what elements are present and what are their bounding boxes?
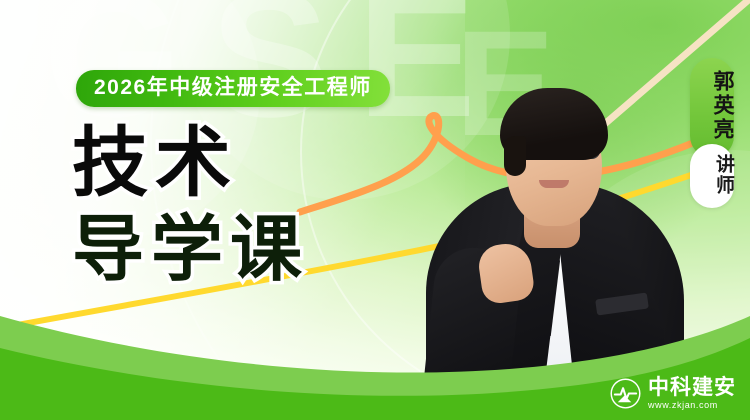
hair bbox=[500, 88, 608, 160]
brand-logo[interactable]: 中科建安 www.zkjan.com bbox=[610, 377, 736, 410]
brand-logo-text: 中科建安 www.zkjan.com bbox=[648, 377, 736, 410]
page-title: 技术 导学课 bbox=[72, 128, 309, 285]
brand-name: 中科建安 bbox=[648, 377, 736, 398]
zkjan-circle-logo-icon bbox=[610, 378, 641, 409]
instructor-name: 郭英亮 bbox=[690, 58, 734, 158]
title-line-secondary: 导学课 bbox=[72, 217, 309, 285]
course-category-badge: 2026年中级注册安全工程师 bbox=[76, 70, 390, 107]
instructor-role-badge: 讲师 bbox=[690, 144, 734, 208]
brand-url: www.zkjan.com bbox=[648, 401, 736, 410]
instructor-label: 郭英亮 讲师 bbox=[690, 58, 734, 208]
mouth bbox=[539, 180, 569, 188]
course-poster: GSE E 2026年中级注册安全工程师 bbox=[0, 0, 750, 420]
title-line-primary: 技术 bbox=[72, 128, 309, 199]
